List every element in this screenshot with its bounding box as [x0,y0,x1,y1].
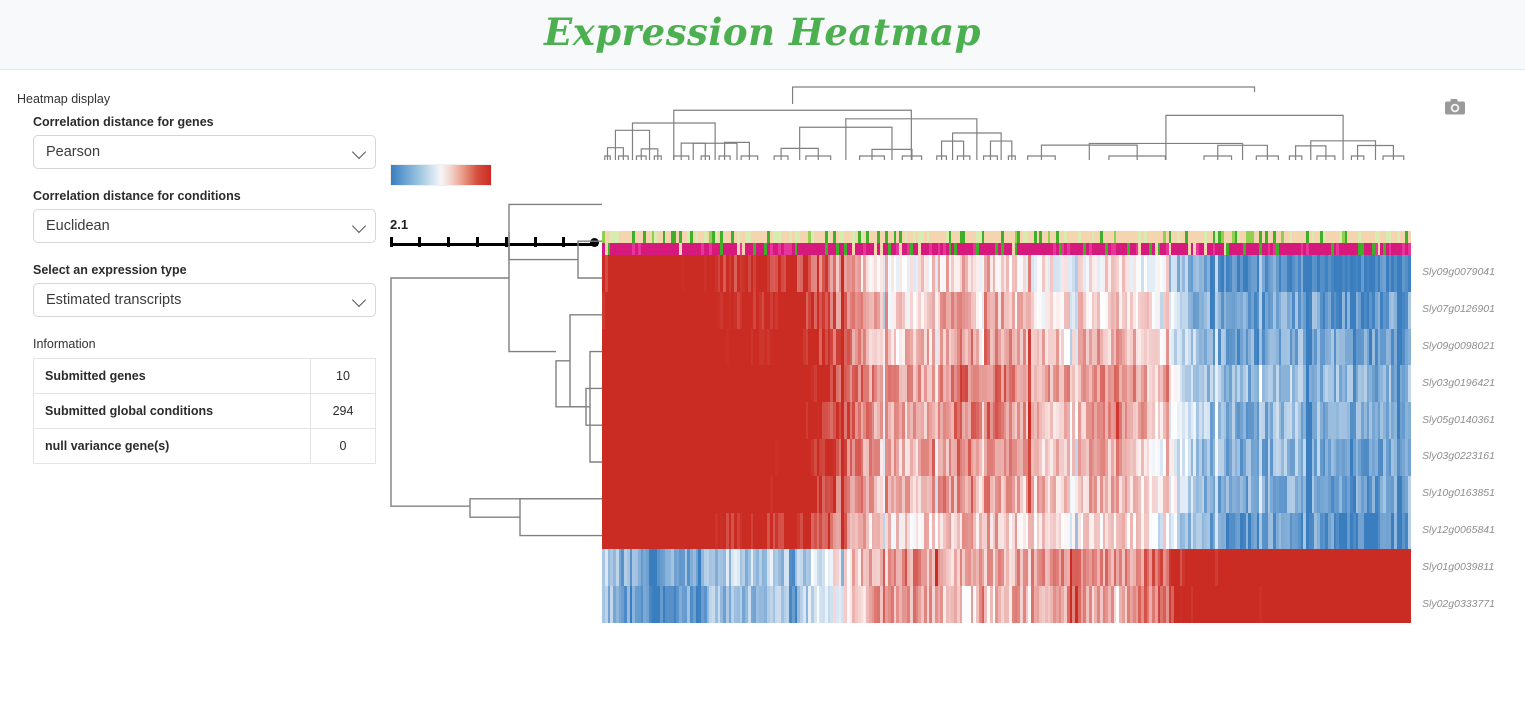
gene-label-axis: Sly09g0079041Sly07g0126901Sly09g0098021S… [1422,255,1522,623]
gene-label: Sly09g0079041 [1422,266,1495,278]
gene-label: Sly12g0065841 [1422,524,1495,536]
page-title: Expression Heatmap [0,10,1525,54]
heatmap-row[interactable] [602,476,1412,513]
heatmap-row[interactable] [602,292,1412,329]
annotation-cell[interactable] [1408,231,1411,243]
heatmap-row[interactable] [602,586,1412,623]
gene-label: Sly02g0333771 [1422,598,1495,610]
gene-label: Sly03g0223161 [1422,450,1495,462]
gene-label: Sly01g0039811 [1422,561,1494,573]
annotation-track-group [602,231,1412,243]
heatmap-cell[interactable] [1408,476,1411,513]
heatmap-row[interactable] [602,513,1412,550]
heatmap-app-page: Expression Heatmap Heatmap display Corre… [0,0,1525,722]
heatmap-row[interactable] [602,439,1412,476]
heatmap-cell[interactable] [1408,402,1411,439]
heatmap-cell[interactable] [1408,549,1411,586]
heatmap-row[interactable] [602,365,1412,402]
heatmap-matrix[interactable] [602,255,1412,623]
heatmap-row[interactable] [602,329,1412,366]
gene-label: Sly09g0098021 [1422,340,1495,352]
heatmap-cell[interactable] [1408,255,1411,292]
annotation-cell[interactable] [1408,243,1411,255]
gene-label: Sly07g0126901 [1422,303,1495,315]
heatmap-cell[interactable] [1408,292,1411,329]
heatmap-cell[interactable] [1408,439,1411,476]
gene-label: Sly05g0140361 [1422,414,1495,426]
heatmap-plot: 2.1 [0,69,1525,722]
condition-annotation-tracks [602,231,1412,255]
app-header: Expression Heatmap [0,0,1525,70]
heatmap-row[interactable] [602,549,1412,586]
heatmap-cell[interactable] [1408,586,1411,623]
gene-label: Sly03g0196421 [1422,377,1495,389]
heatmap-row[interactable] [602,255,1412,292]
heatmap-cell[interactable] [1408,513,1411,550]
heatmap-row[interactable] [602,402,1412,439]
annotation-track-subgroup [602,243,1412,255]
gene-label: Sly10g0163851 [1422,487,1495,499]
heatmap-cell[interactable] [1408,329,1411,366]
heatmap-cell[interactable] [1408,365,1411,402]
